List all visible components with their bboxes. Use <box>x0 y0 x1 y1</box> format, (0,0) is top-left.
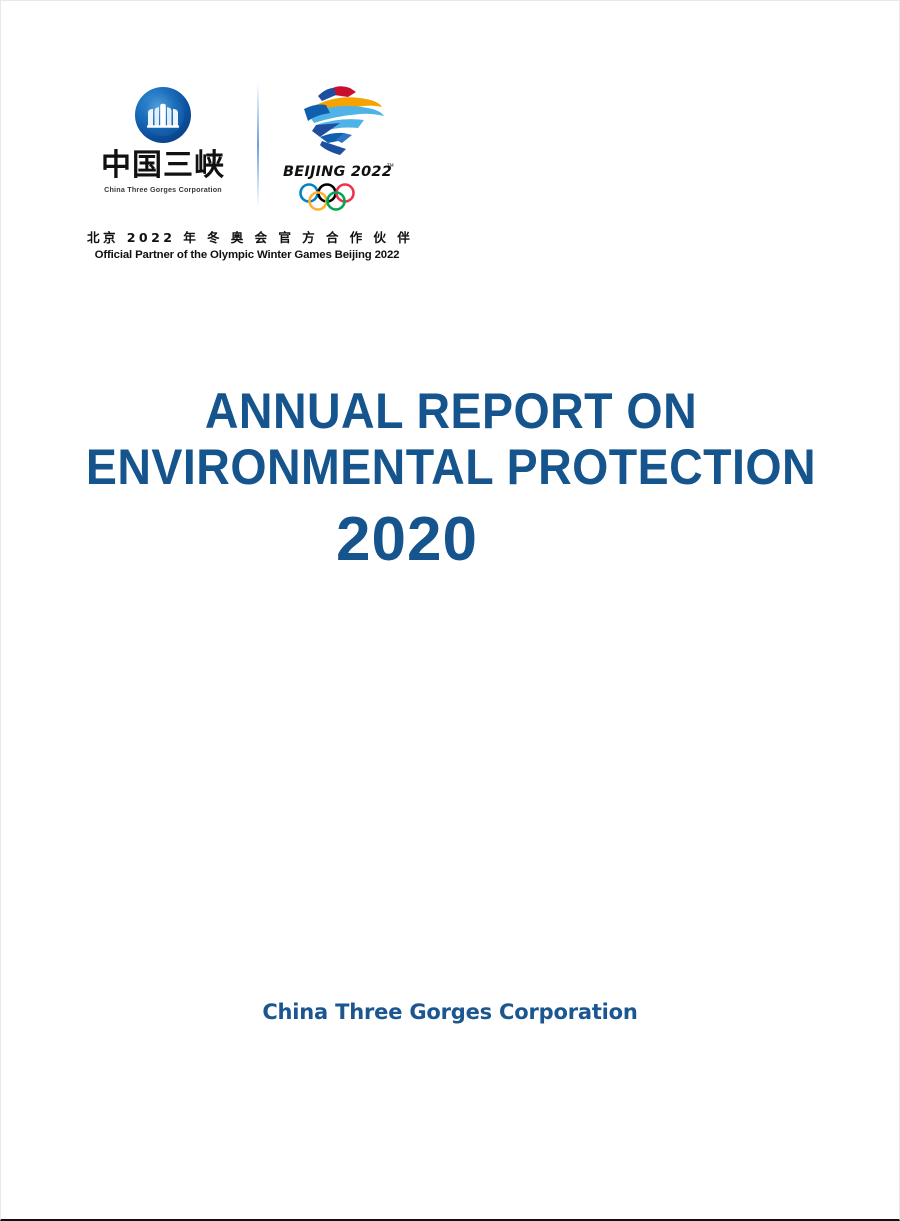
logo-row: 中国三峡 China Three Gorges Corporation <box>87 83 407 211</box>
beijing-2022-logo-lockup: BEIJING 2022 TM <box>277 83 403 212</box>
report-cover-page: 中国三峡 China Three Gorges Corporation <box>0 0 900 1221</box>
ctg-dam-emblem-icon <box>135 87 191 143</box>
logo-band: 中国三峡 China Three Gorges Corporation <box>87 83 407 261</box>
ctg-logo-lockup: 中国三峡 China Three Gorges Corporation <box>87 83 239 194</box>
title-line-2: ENVIRONMENTAL PROTECTION <box>33 439 870 495</box>
cover-title-block: ANNUAL REPORT ON ENVIRONMENTAL PROTECTIO… <box>1 383 900 573</box>
partner-text-en: Official Partner of the Olympic Winter G… <box>87 249 407 261</box>
beijing-2022-wordmark: BEIJING 2022 TM <box>283 161 397 180</box>
trademark-mark: TM <box>386 163 394 169</box>
olympic-rings-icon <box>297 182 383 212</box>
logo-divider <box>257 83 259 207</box>
organization-name: China Three Gorges Corporation <box>0 1000 900 1024</box>
ctg-wordmark-cn: 中国三峡 <box>101 151 225 181</box>
partner-text-cn: 北京 2022 年 冬 奥 会 官 方 合 作 伙 伴 <box>87 227 407 246</box>
beijing-2022-winter-olympics-emblem-icon <box>286 83 394 159</box>
title-line-1: ANNUAL REPORT ON <box>33 383 870 439</box>
ctg-dam-shape-icon <box>146 103 180 129</box>
ctg-wordmark-en: China Three Gorges Corporation <box>104 185 222 194</box>
title-year: 2020 <box>0 507 857 573</box>
official-partner-caption: 北京 2022 年 冬 奥 会 官 方 合 作 伙 伴 Official Par… <box>87 227 407 261</box>
svg-text:BEIJING 2022: BEIJING 2022 <box>283 164 392 180</box>
